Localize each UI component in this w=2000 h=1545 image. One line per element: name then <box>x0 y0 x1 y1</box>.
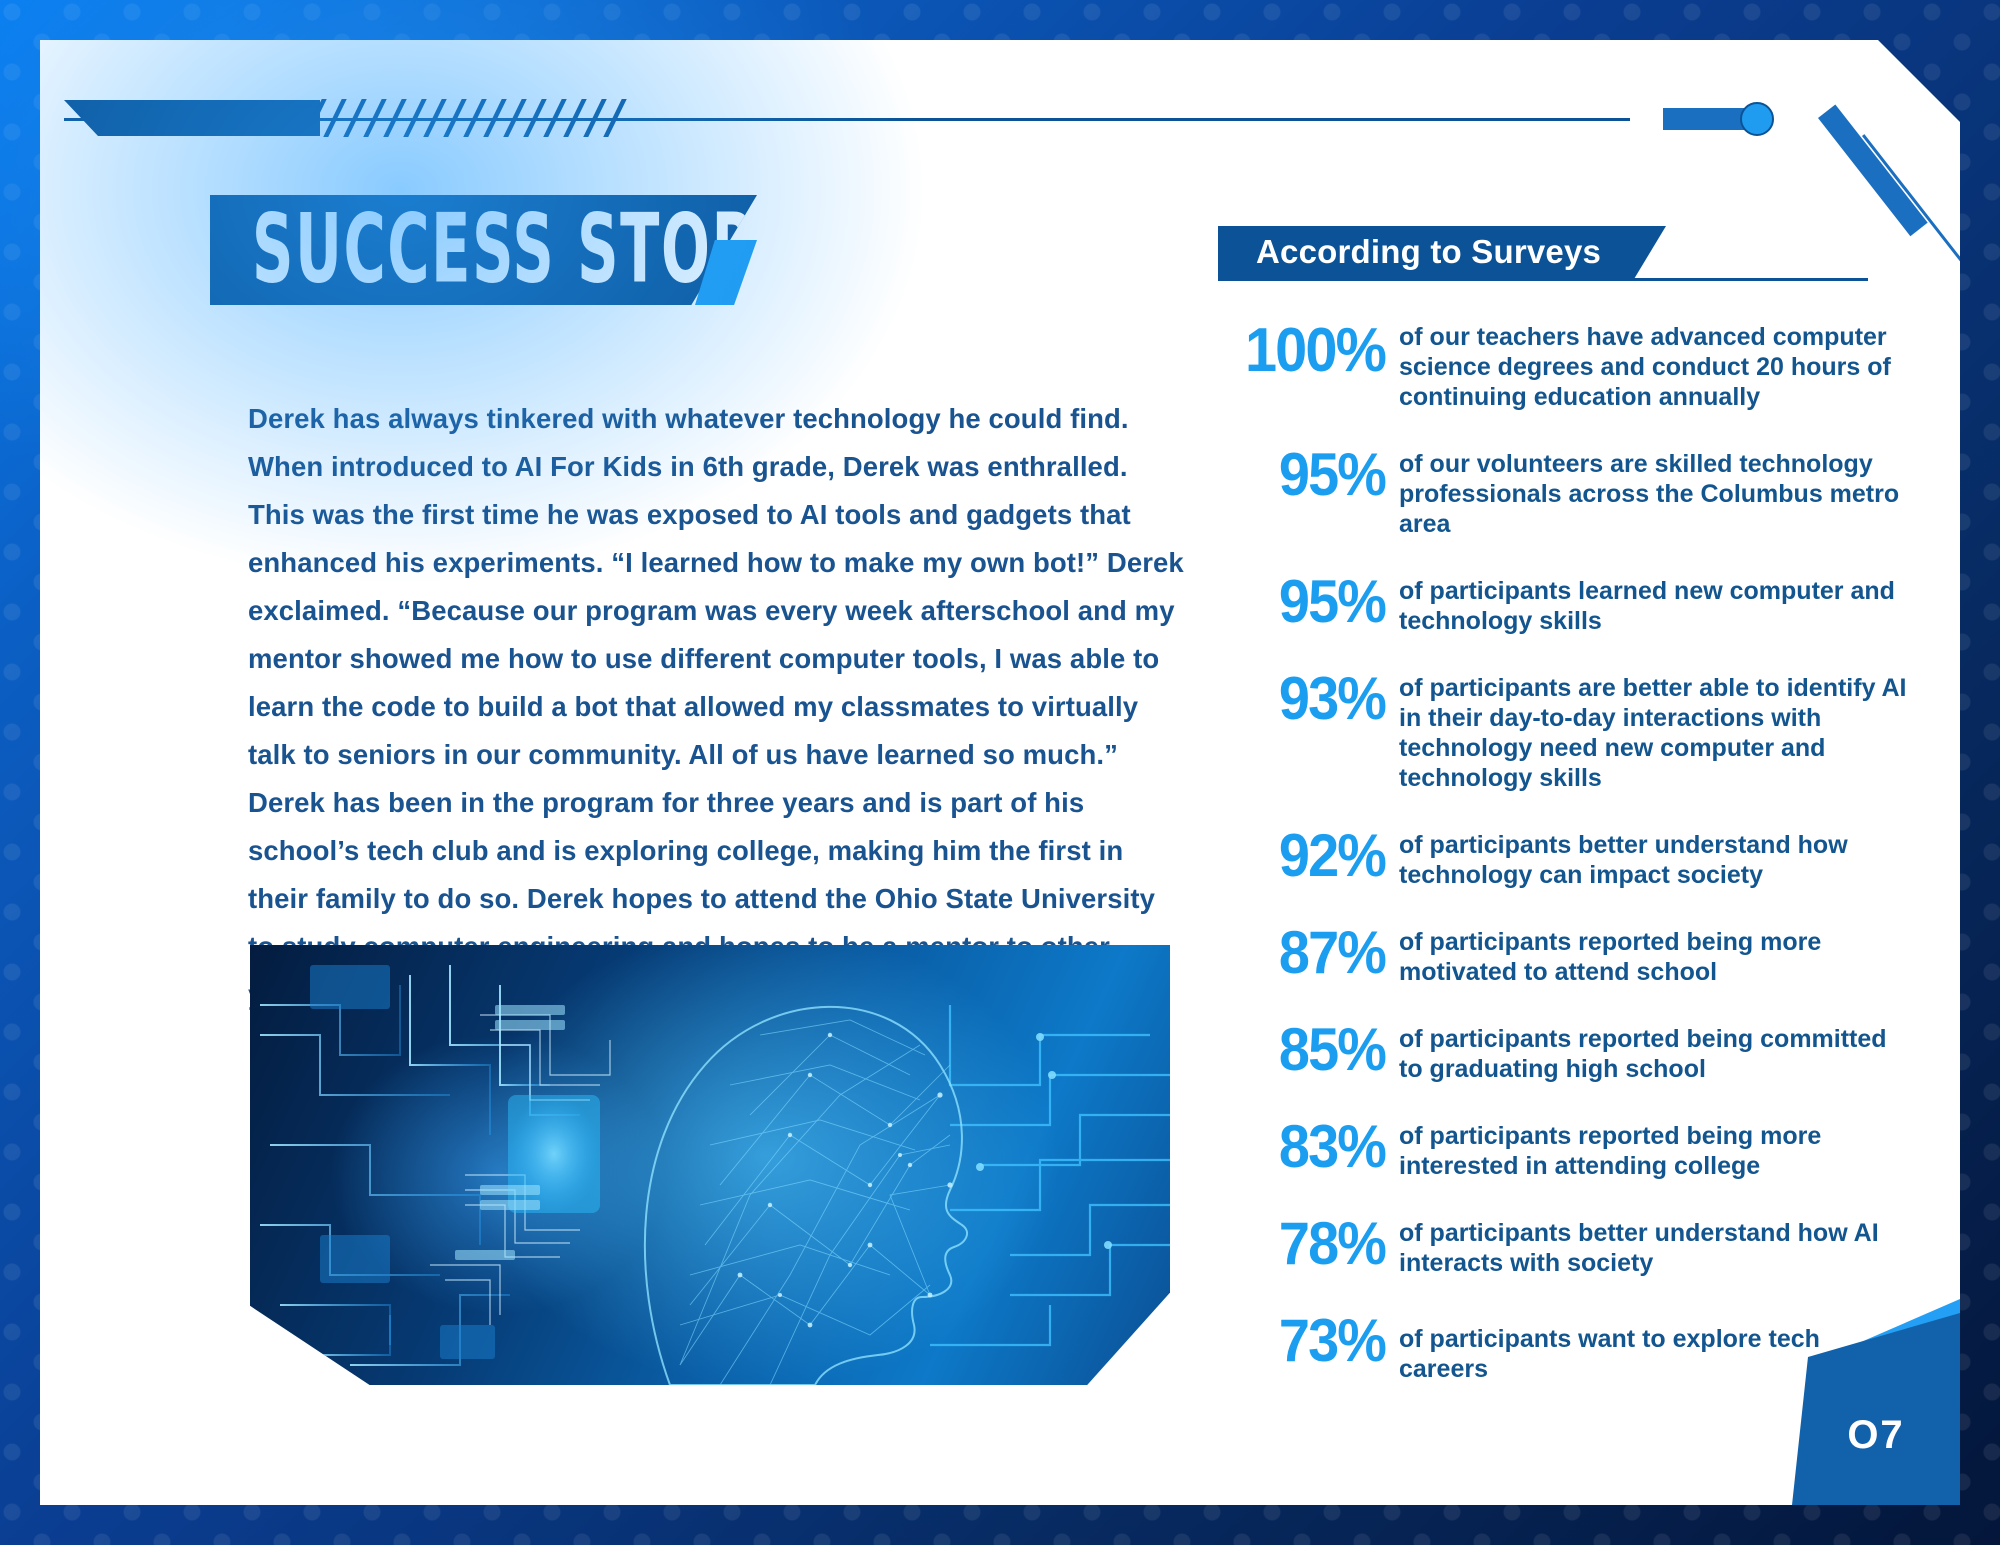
surveys-heading-rule <box>1218 278 1868 281</box>
survey-stat-description: of participants reported being more inte… <box>1399 1118 1910 1181</box>
survey-stat-row: 95%of participants learned new computer … <box>1210 573 1910 636</box>
survey-stat-percent: 100% <box>1222 322 1385 381</box>
survey-stat-description: of our teachers have advanced computer s… <box>1399 322 1910 412</box>
survey-stat-row: 95%of our volunteers are skilled technol… <box>1210 446 1910 539</box>
survey-stat-row: 87%of participants reported being more m… <box>1210 924 1910 987</box>
survey-stat-description: of participants are better able to ident… <box>1399 670 1910 793</box>
page-number: O7 <box>1847 1413 1904 1458</box>
surveys-heading: According to Surveys <box>1256 233 1601 271</box>
survey-stat-row: 78%of participants better understand how… <box>1210 1215 1910 1278</box>
survey-stat-percent: 83% <box>1222 1118 1385 1175</box>
survey-stat-description: of participants better understand how AI… <box>1399 1215 1910 1278</box>
survey-stat-description: of participants learned new computer and… <box>1399 573 1910 636</box>
survey-stat-percent: 78% <box>1222 1215 1385 1272</box>
survey-stat-description: of participants reported being more moti… <box>1399 924 1910 987</box>
header-hatch-block <box>64 100 320 136</box>
survey-stat-description: of our volunteers are skilled technology… <box>1399 446 1910 539</box>
survey-stat-row: 92%of participants better understand how… <box>1210 827 1910 890</box>
survey-stat-percent: 95% <box>1222 573 1385 630</box>
page-title: SUCCESS STORIES <box>252 195 865 305</box>
header-rule <box>64 118 1630 121</box>
page-title-accent-shape <box>695 240 757 305</box>
survey-stat-description: of participants reported being committed… <box>1399 1021 1910 1084</box>
story-paragraph: Derek has always tinkered with whatever … <box>248 395 1188 1019</box>
page-title-banner: SUCCESS STORIES <box>210 195 757 305</box>
survey-stats-list: 100%of our teachers have advanced comput… <box>1210 322 1910 1418</box>
page-sheet: SUCCESS STORIES Derek has always tinkere… <box>40 40 1960 1505</box>
page-background: SUCCESS STORIES Derek has always tinkere… <box>0 0 2000 1545</box>
survey-stat-row: 100%of our teachers have advanced comput… <box>1210 322 1910 412</box>
survey-stat-percent: 87% <box>1222 924 1385 981</box>
survey-stat-row: 85%of participants reported being commit… <box>1210 1021 1910 1084</box>
survey-stat-percent: 85% <box>1222 1021 1385 1078</box>
header-hatch-strokes <box>312 99 642 137</box>
corner-arm-decoration <box>1818 104 1928 236</box>
survey-stat-percent: 93% <box>1222 670 1385 727</box>
header-node-dot-icon <box>1740 102 1774 136</box>
survey-stat-row: 83%of participants reported being more i… <box>1210 1118 1910 1181</box>
surveys-heading-banner: According to Surveys <box>1218 226 1666 278</box>
survey-stat-row: 93%of participants are better able to id… <box>1210 670 1910 793</box>
survey-stat-description: of participants better understand how te… <box>1399 827 1910 890</box>
survey-stat-percent: 95% <box>1222 446 1385 503</box>
survey-stat-percent: 73% <box>1222 1312 1385 1369</box>
ai-head-circuit-image <box>250 945 1170 1385</box>
survey-stat-percent: 92% <box>1222 827 1385 884</box>
survey-stat-row: 73%of participants want to explore tech … <box>1210 1312 1910 1384</box>
